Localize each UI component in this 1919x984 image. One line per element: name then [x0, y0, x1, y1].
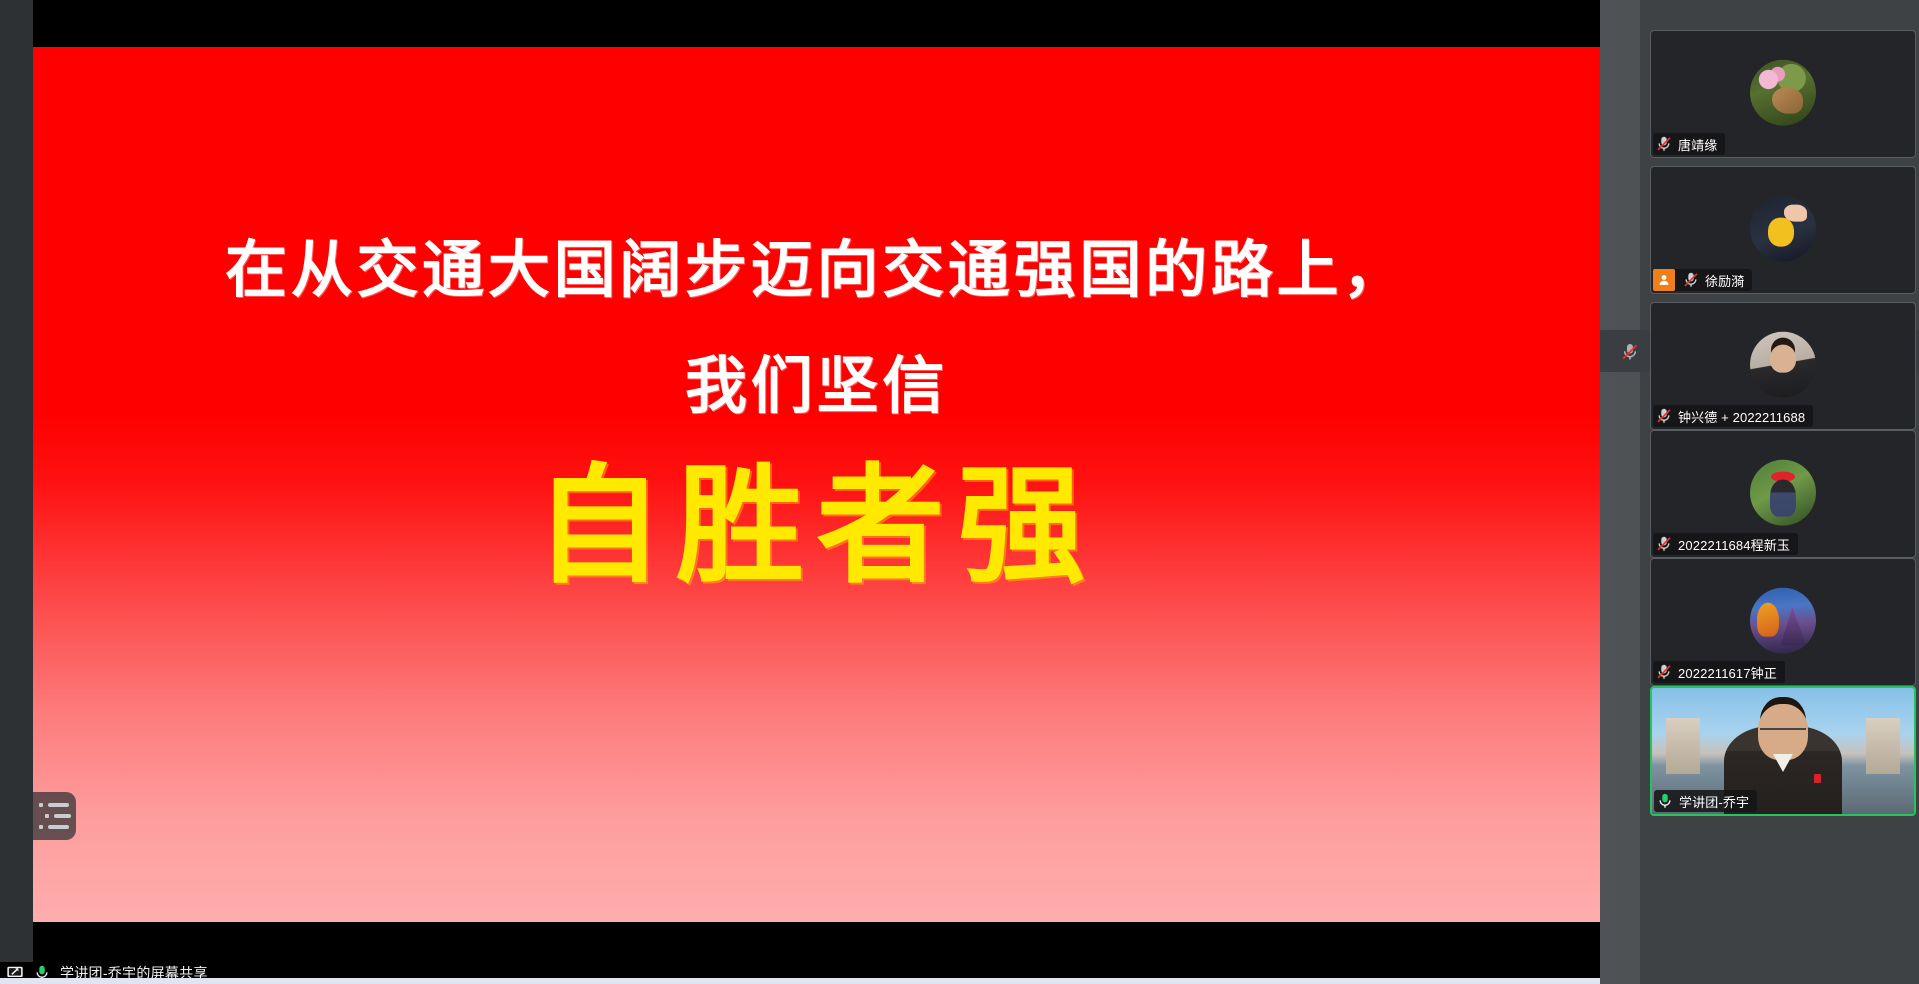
- host-badge-icon: [1653, 269, 1675, 291]
- slide-text-line-1: 在从交通大国阔步迈向交通强国的路上，: [33, 219, 1600, 309]
- mic-muted-icon: [1655, 663, 1673, 681]
- slide-text-line-2: 我们坚信: [33, 335, 1600, 425]
- avatar: [1750, 332, 1816, 398]
- participant-tile[interactable]: 钟兴德 + 2022211688: [1650, 302, 1916, 430]
- outline-row: [39, 803, 76, 807]
- nameplate: 徐励漪: [1653, 269, 1752, 291]
- participant-name: 唐靖缘: [1678, 135, 1717, 154]
- mic-muted-icon: [1655, 535, 1673, 553]
- participant-tile[interactable]: 唐靖缘: [1650, 30, 1916, 158]
- participant-name: 徐励漪: [1705, 271, 1744, 290]
- mic-muted-icon: [1620, 342, 1638, 360]
- participant-tile-active-speaker[interactable]: 学讲团-乔宇: [1650, 686, 1916, 816]
- participant-name: 2022211617钟正: [1678, 663, 1777, 682]
- nameplate: 钟兴德 + 2022211688: [1653, 405, 1813, 427]
- bottom-edge-strip: [0, 978, 1600, 984]
- avatar: [1750, 196, 1816, 262]
- nameplate: 2022211617钟正: [1653, 661, 1785, 683]
- bullet-line-icon: [48, 825, 69, 829]
- mic-on-icon: [1656, 792, 1674, 810]
- background-gate-right: [1866, 718, 1900, 773]
- participant-tile[interactable]: 2022211617钟正: [1650, 558, 1916, 686]
- bullet-dot-icon: [39, 825, 43, 829]
- background-gate-left: [1666, 718, 1700, 773]
- mic-muted-icon: [1655, 407, 1673, 425]
- participant-name: 钟兴德 + 2022211688: [1678, 407, 1805, 426]
- outline-toggle-button[interactable]: [33, 792, 76, 840]
- nameplate: 学讲团-乔宇: [1654, 790, 1757, 812]
- participant-name: 2022211684程新玉: [1678, 535, 1790, 554]
- avatar: [1750, 588, 1816, 654]
- participant-name: 学讲团-乔宇: [1679, 792, 1749, 811]
- outline-row: [39, 825, 76, 829]
- bullet-line-icon: [54, 814, 71, 818]
- avatar: [1750, 460, 1816, 526]
- mic-muted-icon: [1655, 135, 1673, 153]
- bullet-line-icon: [48, 803, 69, 807]
- slide-headline: 自胜者强: [33, 422, 1600, 607]
- presentation-slide: 在从交通大国阔步迈向交通强国的路上， 我们坚信 自胜者强: [33, 47, 1600, 922]
- bullet-dot-icon: [45, 814, 49, 818]
- avatar: [1750, 60, 1816, 126]
- bullet-dot-icon: [39, 803, 43, 807]
- nameplate: 唐靖缘: [1653, 133, 1725, 155]
- participant-tile[interactable]: 2022211684程新玉: [1650, 430, 1916, 558]
- participant-panel: 唐靖缘: [1600, 0, 1919, 984]
- meeting-window: 在从交通大国阔步迈向交通强国的路上， 我们坚信 自胜者强: [0, 0, 1919, 984]
- left-rail: [0, 0, 33, 962]
- mic-muted-icon: [1682, 271, 1700, 289]
- shared-screen-stage: 在从交通大国阔步迈向交通强国的路上， 我们坚信 自胜者强: [33, 0, 1600, 962]
- lapel-pin-icon: [1814, 774, 1821, 783]
- participant-tile[interactable]: 徐励漪: [1650, 166, 1916, 294]
- nameplate: 2022211684程新玉: [1653, 533, 1798, 555]
- glasses-icon: [1760, 728, 1806, 739]
- outline-row: [39, 814, 76, 818]
